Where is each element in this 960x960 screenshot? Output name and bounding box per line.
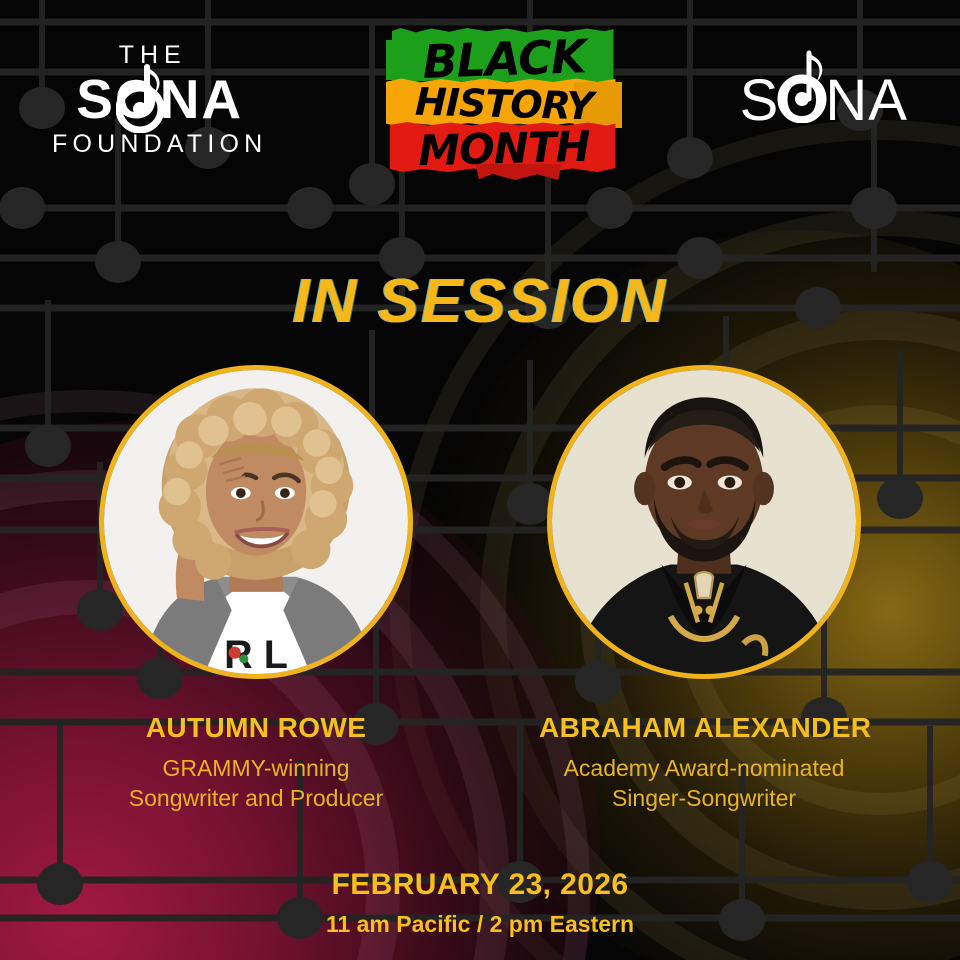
poster-header: THE SONA FOUNDATION (0, 0, 960, 200)
black-history-month-logo: BLACK HISTORY MONTH (386, 26, 622, 174)
poster-canvas: THE SONA FOUNDATION (0, 0, 960, 960)
portrait-abraham-alexander (552, 370, 856, 674)
foundation-wordmark: SONA (76, 72, 243, 127)
speaker-card: R L (91, 365, 421, 814)
speaker-role: Academy Award-nominated Singer-Songwrite… (539, 753, 869, 814)
avatar: R L (99, 365, 413, 679)
music-note-icon (777, 45, 833, 123)
event-details: FEBRUARY 23, 2026 11 am Pacific / 2 pm E… (0, 868, 960, 938)
music-note-icon (116, 59, 170, 133)
speaker-list: R L (0, 365, 960, 814)
sona-foundation-logo: THE SONA FOUNDATION (52, 43, 267, 157)
speaker-name: ABRAHAM ALEXANDER (539, 712, 869, 744)
speaker-card: ABRAHAM ALEXANDER Academy Award-nominate… (539, 365, 869, 814)
avatar (547, 365, 861, 679)
sona-logo: SONA (740, 67, 908, 134)
bhm-line-month: MONTH (385, 121, 622, 176)
portrait-autumn-rowe: R L (104, 370, 408, 674)
event-date: FEBRUARY 23, 2026 (0, 868, 960, 902)
foundation-sub-label: FOUNDATION (52, 132, 267, 157)
page-title: IN SESSION (0, 266, 960, 337)
speaker-name: AUTUMN ROWE (91, 712, 421, 744)
speaker-role: GRAMMY-winning Songwriter and Producer (91, 753, 421, 814)
event-time: 11 am Pacific / 2 pm Eastern (0, 911, 960, 938)
